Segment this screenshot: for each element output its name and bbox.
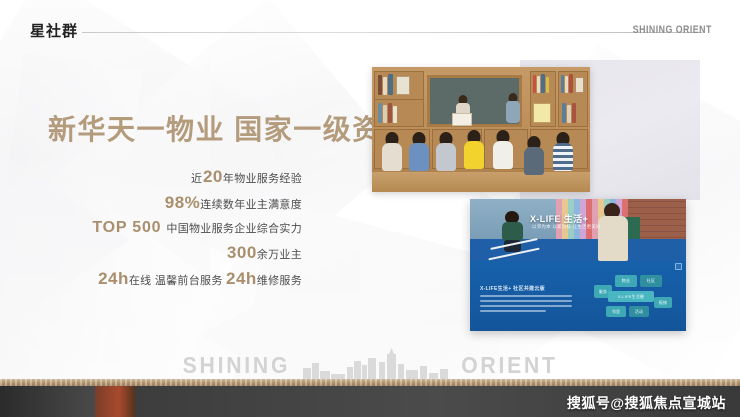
bottom-bar: 搜狐号@搜狐焦点宣城站 [0, 386, 740, 417]
footer-watermark-right: ORIENT [461, 352, 557, 379]
stat-number: 24h [98, 269, 129, 288]
slide-canvas: 星社群 SHINING ORIENT 新华天一物业 国家一级资质 近20年物业服… [0, 0, 740, 417]
stat-prefix: 近 [191, 173, 202, 185]
parent-figure [596, 203, 632, 261]
list-item: 24h在线 温馨前台服务 24h维修服务 [0, 269, 302, 289]
stat-number: 98% [165, 193, 201, 212]
stat-number: 20 [203, 167, 223, 186]
brand-logo-cn: 星社群 [30, 20, 78, 41]
child-figure [407, 132, 431, 174]
slide-header: 星社群 SHINING ORIENT [0, 0, 740, 56]
child-figure [461, 130, 487, 174]
page-title: 新华天一物业 国家一级资质 [48, 108, 411, 148]
child-figure [490, 130, 516, 174]
stat-label: 在线 温馨前台服务 [129, 275, 226, 287]
app-section-heading: X-LIFE生活+ 社区共建云版 [480, 285, 545, 292]
stat-label-secondary: 维修服务 [257, 275, 302, 287]
photo-xlife-app: X-LIFE 生活+ 以邻为本 以家为核 让生活更美好 X-LIFE生活+ 社区… [470, 199, 686, 331]
app-chip[interactable]: 物业 [615, 275, 637, 287]
footer-watermark-left: SHINING [183, 352, 290, 379]
app-hero-banner: X-LIFE 生活+ 以邻为本 以家为核 让生活更美好 [470, 199, 686, 261]
list-item: 300余万业主 [0, 243, 302, 263]
child-figure [550, 132, 576, 174]
list-item: TOP 500中国物业服务企业综合实力 [0, 219, 302, 237]
app-chip[interactable]: 邻里 [606, 306, 626, 317]
stat-number: 300 [227, 243, 257, 262]
stat-number: TOP 500 [92, 219, 161, 236]
app-hero-subtitle: 以邻为本 以家为核 让生活更美好 [532, 224, 601, 230]
app-chip[interactable]: 社区 [640, 275, 662, 287]
stat-label: 余万业主 [257, 249, 302, 261]
sohu-watermark: 搜狐号@搜狐焦点宣城站 [567, 393, 726, 413]
app-chip-grid: 服务 物业 社区 X-LIFE生活圈 邻里 活动 报修 [594, 275, 672, 323]
photo-children-library [372, 67, 590, 192]
stat-label: 中国物业服务企业综合实力 [166, 223, 302, 235]
child-figure [434, 132, 458, 174]
child-figure [380, 132, 404, 174]
app-chip[interactable]: 报修 [654, 297, 672, 308]
header-divider-rule [82, 32, 702, 33]
app-paragraph-placeholder [480, 295, 572, 315]
stat-label: 年物业服务经验 [223, 173, 302, 185]
stat-label: 连续数年业主满意度 [200, 199, 302, 211]
menu-icon[interactable] [675, 263, 682, 270]
brand-logo-en: SHINING ORIENT [633, 24, 712, 36]
stat-number-secondary: 24h [226, 269, 257, 288]
app-content-panel: X-LIFE生活+ 社区共建云版 服务 物业 社区 X-LIFE生活圈 邻里 活… [470, 261, 686, 331]
child-figure [522, 136, 546, 174]
list-item: 98%连续数年业主满意度 [0, 193, 302, 213]
wood-trim-band [0, 379, 740, 386]
assistant-figure [506, 93, 520, 129]
app-chip[interactable]: 活动 [629, 306, 649, 317]
city-skyline-icon [301, 348, 451, 382]
list-item: 近20年物业服务经验 [0, 167, 302, 187]
stats-list: 近20年物业服务经验 98%连续数年业主满意度 TOP 500中国物业服务企业综… [0, 167, 340, 295]
app-chip-featured[interactable]: X-LIFE生活圈 [608, 291, 654, 302]
